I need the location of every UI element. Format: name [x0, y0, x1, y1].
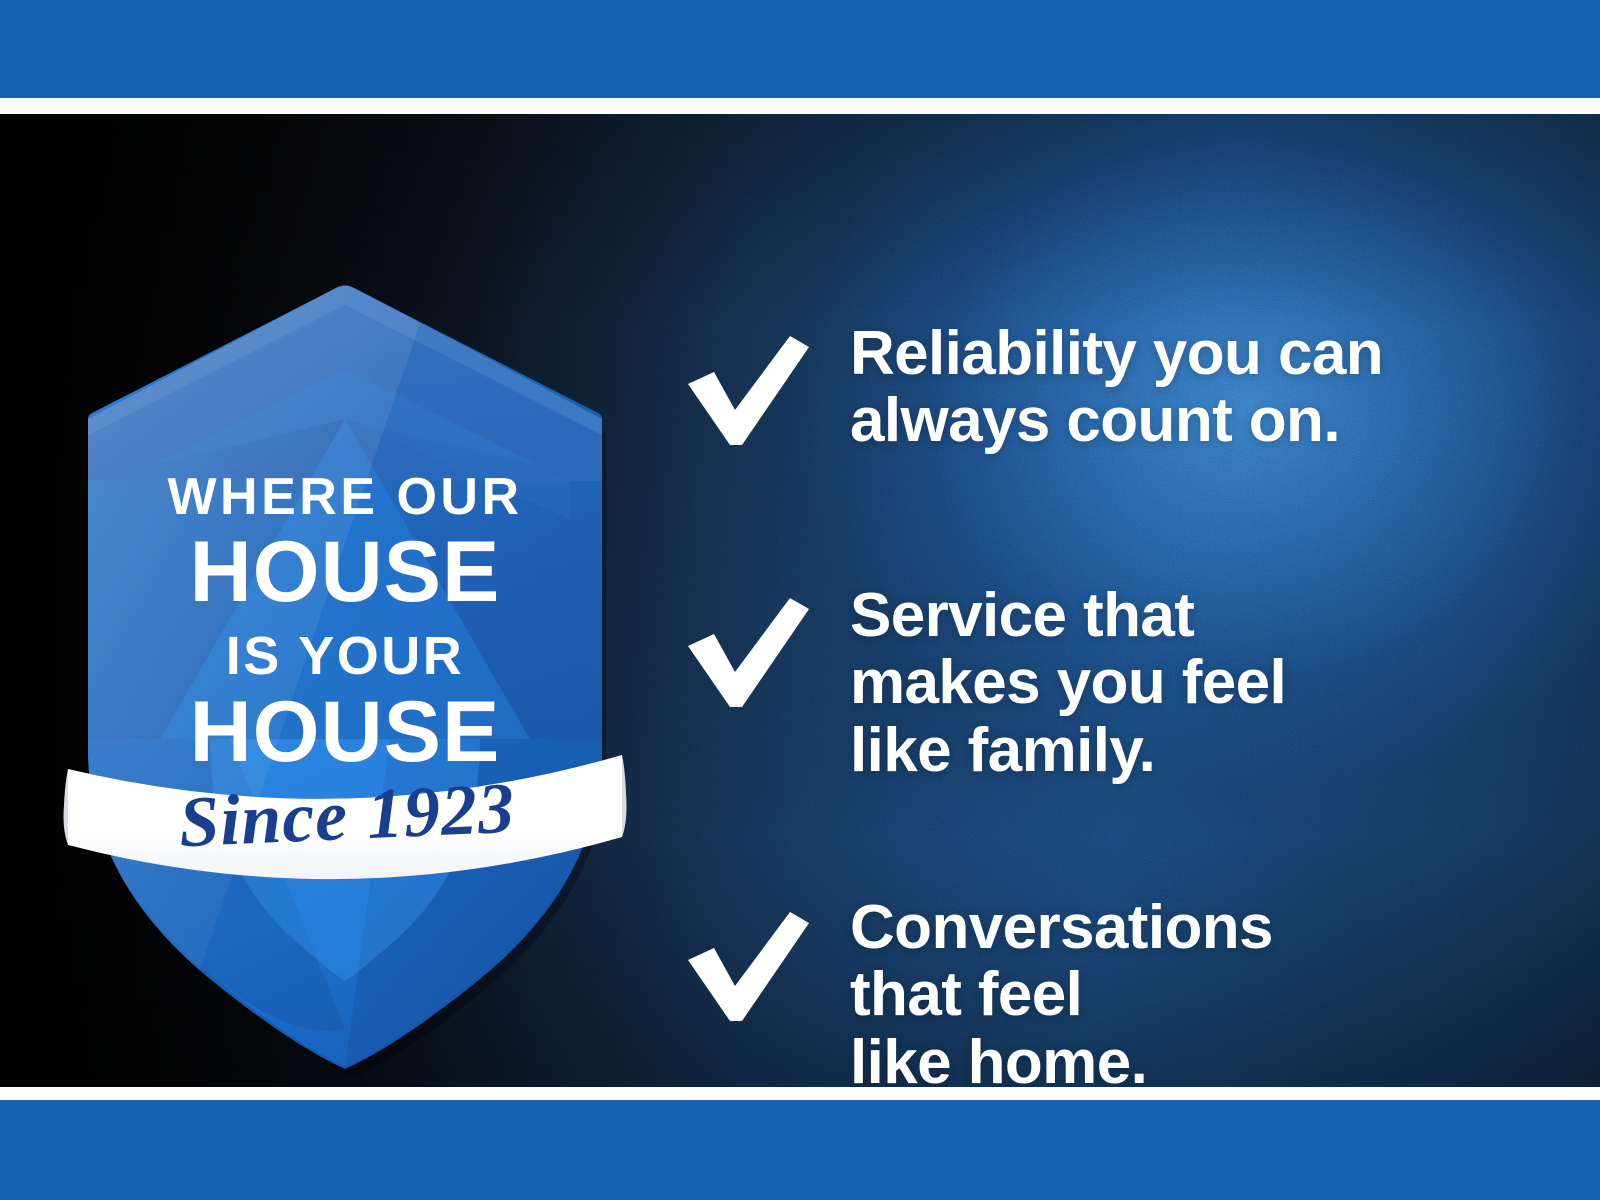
- brand-bar-bottom: [0, 1100, 1600, 1200]
- promo-poster: WHERE OUR HOUSE IS YOUR HOUSE Since 1923: [0, 0, 1600, 1200]
- checkmark-icon: [678, 908, 813, 1028]
- checkmark-icon: [678, 332, 813, 452]
- company-shield-logo: WHERE OUR HOUSE IS YOUR HOUSE Since 1923: [60, 269, 630, 1079]
- logo-since-text: Since 1923: [177, 768, 516, 863]
- logo-ribbon-fold-right: [622, 755, 627, 837]
- benefit-text-conversations: Conversations that feel like home.: [850, 894, 1530, 1087]
- poster-canvas: WHERE OUR HOUSE IS YOUR HOUSE Since 1923: [0, 114, 1600, 1087]
- logo-line-1: WHERE OUR: [167, 468, 522, 526]
- benefit-text-service: Service that makes you feel like family.: [850, 582, 1530, 784]
- benefit-text-reliability: Reliability you can always count on.: [850, 320, 1530, 455]
- logo-ribbon-fold-left: [64, 769, 69, 845]
- logo-line-3: IS YOUR: [226, 626, 465, 686]
- logo-line-4: HOUSE: [190, 684, 501, 780]
- logo-line-2: HOUSE: [190, 524, 501, 620]
- checkmark-icon: [678, 594, 813, 714]
- brand-bar-top: [0, 0, 1600, 98]
